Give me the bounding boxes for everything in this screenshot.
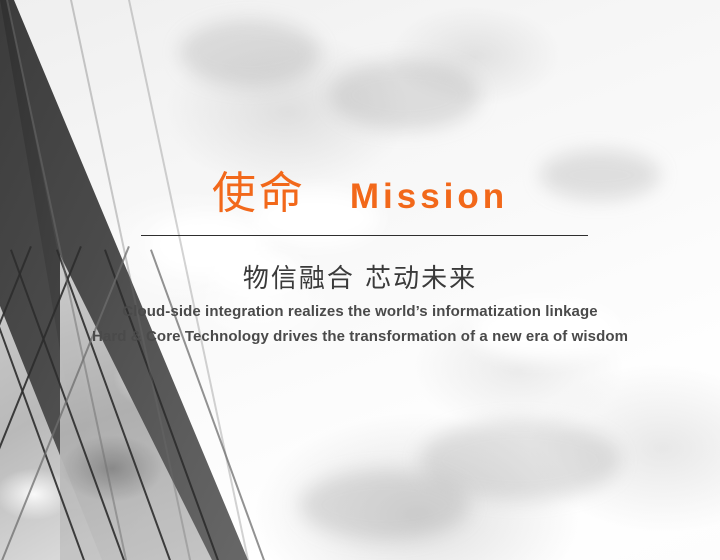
title-english: Mission — [350, 179, 508, 214]
description-line-1: Cloud-side integration realizes the worl… — [0, 303, 720, 320]
mission-banner: 使命 Mission 物信融合 芯动未来 Cloud-side integrat… — [0, 0, 720, 560]
banner-title: 使命 Mission — [0, 172, 720, 216]
title-chinese: 使命 — [212, 172, 306, 216]
title-divider-line — [141, 235, 588, 236]
description-line-2: Hard & Core Technology drives the transf… — [0, 328, 720, 345]
subtitle-chinese: 物信融合 芯动未来 — [0, 258, 720, 295]
